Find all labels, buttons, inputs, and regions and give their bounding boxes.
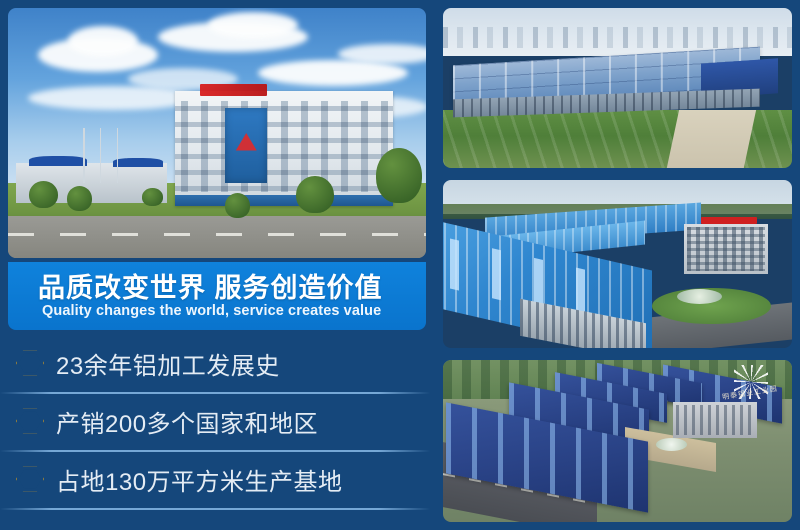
tree-shape — [225, 193, 250, 218]
company-profile-poster: 品质改变世界 服务创造价值 Quality changes the world,… — [0, 0, 800, 530]
tree-shape — [296, 176, 334, 214]
gallery-photo-masterplan-rendering: 明泰铝业工业园 — [443, 360, 792, 522]
rooftop-sign — [701, 217, 757, 224]
list-item-label: 占地130万平方米生产基地 — [56, 462, 343, 497]
list-item[interactable]: 产销200多个国家和地区 — [0, 394, 430, 452]
road-layer — [8, 216, 426, 259]
tree-shape — [29, 181, 58, 209]
gate-building — [673, 402, 757, 438]
slogan-headline-cn: 品质改变世界 服务创造价值 — [38, 266, 383, 305]
tree-shape — [142, 188, 163, 206]
blue-roof — [29, 156, 88, 166]
cloud-shape — [208, 12, 298, 38]
office-tower — [684, 224, 768, 274]
tree-shape — [376, 148, 422, 203]
gallery-photo-1-canvas — [443, 8, 792, 168]
gallery-photo-factory-complex — [443, 8, 792, 168]
flag-poles — [83, 128, 125, 183]
feature-list: 23余年铝加工发展史 产销200多个国家和地区 占地130万平方米生产基地 — [0, 336, 430, 510]
gallery-photo-2-canvas — [443, 180, 792, 348]
list-divider — [0, 508, 430, 510]
tree-shape — [67, 186, 92, 211]
cloud-shape — [68, 26, 138, 56]
list-item-label: 产销200多个国家和地区 — [56, 404, 318, 439]
hexagon-icon — [16, 408, 44, 434]
hero-photo-headquarters — [8, 8, 426, 258]
access-road — [667, 110, 756, 168]
main-office-building — [175, 91, 392, 206]
fountain — [656, 438, 687, 451]
gallery-photo-workshops — [443, 180, 792, 348]
list-item-label: 23余年铝加工发展史 — [56, 346, 280, 381]
hero-photo-canvas — [8, 8, 426, 258]
slogan-headline-en: Quality changes the world, service creat… — [42, 303, 381, 319]
gallery-photo-3-canvas: 明泰铝业工业园 — [443, 360, 792, 522]
hexagon-icon — [16, 350, 44, 376]
city-skyline — [443, 27, 792, 48]
rooftop-sign — [200, 84, 267, 96]
hexagon-icon — [16, 466, 44, 492]
list-item[interactable]: 占地130万平方米生产基地 — [0, 452, 430, 510]
slogan-banner: 品质改变世界 服务创造价值 Quality changes the world,… — [8, 262, 426, 330]
list-item[interactable]: 23余年铝加工发展史 — [0, 336, 430, 394]
